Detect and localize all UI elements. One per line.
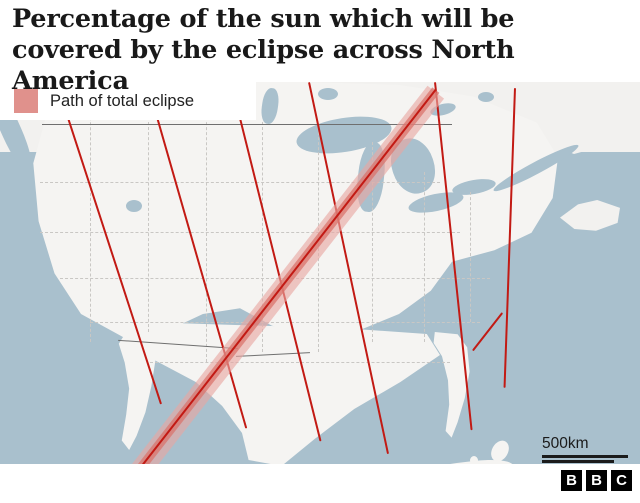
state-boundary-h2 <box>40 232 460 233</box>
state-boundary-h4 <box>90 322 480 323</box>
scale-bar-miles <box>542 460 614 463</box>
scale-bar-km <box>542 455 628 458</box>
state-boundary-v7 <box>424 172 425 342</box>
bbc-logo: B B C <box>561 470 632 491</box>
state-boundary-v8 <box>470 192 471 322</box>
eclipse-map-infographic: Percentage of the sun which will be cove… <box>0 0 640 503</box>
footer: B B C <box>0 464 640 503</box>
page-title: Percentage of the sun which will be cove… <box>12 4 624 97</box>
bbc-logo-letter-3: C <box>611 470 632 491</box>
header: Percentage of the sun which will be cove… <box>0 0 640 82</box>
state-boundary-v3 <box>206 112 207 362</box>
map-canvas[interactable] <box>0 82 640 464</box>
state-boundary-v2 <box>148 122 149 332</box>
bbc-logo-letter-2: B <box>586 470 607 491</box>
scale-km-label: 500km <box>542 434 628 453</box>
bbc-logo-letter-1: B <box>561 470 582 491</box>
border-usa-canada <box>42 124 452 125</box>
state-boundary-h1 <box>40 182 440 183</box>
state-boundary-v1 <box>90 92 91 342</box>
